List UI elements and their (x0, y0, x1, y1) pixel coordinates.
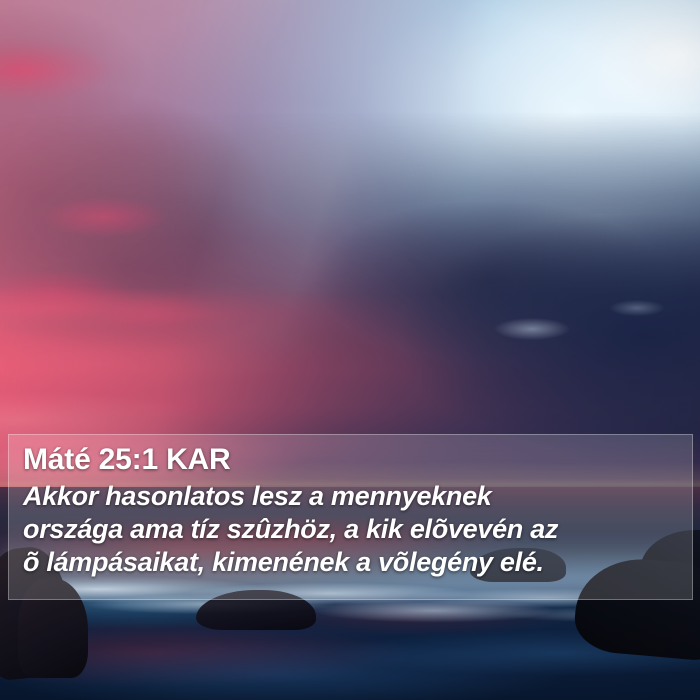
verse-line-3: õ lámpásaikat, kimenének a võlegény elé. (23, 546, 678, 579)
verse-line-1: Akkor hasonlatos lesz a mennyeknek (23, 480, 678, 513)
verse-line-2: országa ama tíz szûzhöz, a kik elõvevén … (23, 513, 678, 546)
verse-text: Akkor hasonlatos lesz a mennyeknek orszá… (23, 480, 678, 579)
verse-overlay-panel: Máté 25:1 KAR Akkor hasonlatos lesz a me… (8, 434, 693, 600)
verse-reference: Máté 25:1 KAR (23, 443, 678, 477)
verse-image: Máté 25:1 KAR Akkor hasonlatos lesz a me… (0, 0, 700, 700)
